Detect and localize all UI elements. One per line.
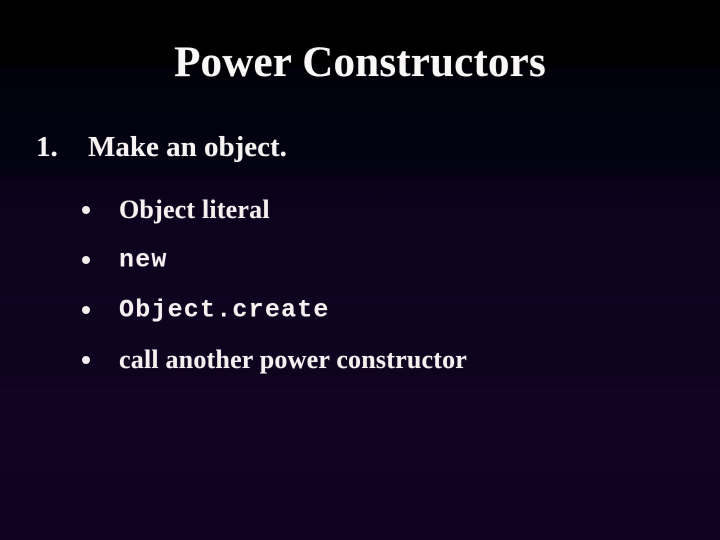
bullet-dot-icon	[82, 206, 90, 214]
slide-title: Power Constructors	[0, 40, 720, 86]
slide-content: Power Constructors 1. Make an object. Ob…	[0, 0, 720, 540]
bullet-dot-icon	[82, 356, 90, 364]
bullet-label-object-literal: Object literal	[119, 195, 270, 225]
bullet-dot-icon	[82, 306, 90, 314]
bullet-list: Object literal new Object.create call an…	[0, 185, 720, 385]
numbered-list-item-1: 1. Make an object.	[36, 131, 287, 163]
list-item-label: Make an object.	[88, 131, 287, 163]
presentation-slide: Power Constructors 1. Make an object. Ob…	[0, 0, 720, 540]
list-item: Object.create	[0, 285, 720, 335]
list-item: call another power constructor	[0, 335, 720, 385]
list-number: 1.	[36, 131, 88, 163]
bullet-label-call-another-power-constructor: call another power constructor	[119, 345, 467, 375]
bullet-label-new: new	[119, 246, 168, 275]
bullet-dot-icon	[82, 256, 90, 264]
list-item: Object literal	[0, 185, 720, 235]
list-item: new	[0, 235, 720, 285]
bullet-label-object-create: Object.create	[119, 296, 330, 325]
